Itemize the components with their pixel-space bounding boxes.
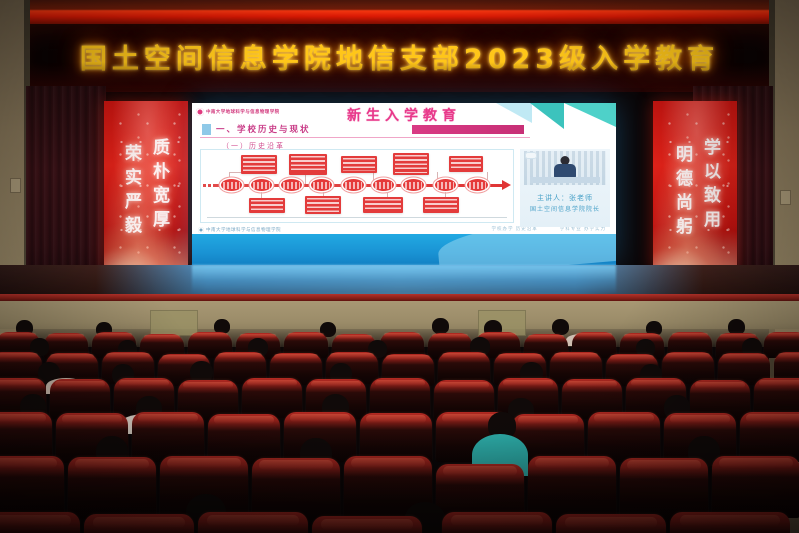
seat <box>84 514 194 533</box>
presenter-name-line: 主讲人：张老师 <box>520 193 610 203</box>
slide-section-heading: 一、学校历史与现状 <box>216 123 311 135</box>
main-projection-screen: 中南大学地球科学与信息物理学院 新生入学教育 一、学校历史与现状 （一）历史沿革 <box>192 103 616 265</box>
slide-title: 新生入学教育 <box>192 105 616 125</box>
presenter-podium <box>530 177 600 183</box>
audience-seating <box>0 316 799 533</box>
auditorium-photo: 国土空间信息学院地信支部2023级入学教育 质朴宽厚 荣实严毅 学以致用 明德尚… <box>0 0 799 533</box>
seat <box>198 512 308 533</box>
slide-title-underbar <box>412 125 524 134</box>
timeline-node <box>467 179 488 191</box>
banner-title-text: 国土空间信息学院地信支部2023级入学教育 <box>80 37 719 76</box>
timeline-box-below <box>423 197 459 213</box>
seat <box>588 412 660 462</box>
seat <box>712 456 799 518</box>
calligraphy-left-column-2: 荣实严毅 <box>119 125 144 259</box>
timeline-node <box>281 179 302 191</box>
timeline-box-above <box>241 155 277 174</box>
timeline-box-above <box>449 156 483 172</box>
footer-emblem-icon <box>198 227 204 233</box>
led-wave-left <box>104 219 188 271</box>
stage-edge-trim <box>0 294 799 301</box>
presenter-body <box>554 164 576 178</box>
calligraphy-right-column-1: 学以致用 <box>698 113 723 259</box>
wall-socket-right <box>780 190 791 205</box>
timeline-node <box>403 179 424 191</box>
seat <box>312 516 422 533</box>
presenter-badge-icon <box>525 152 537 159</box>
timeline-node <box>373 179 394 191</box>
presentation-slide: 中南大学地球科学与信息物理学院 新生入学教育 一、学校历史与现状 （一）历史沿革 <box>192 103 616 234</box>
wall-socket-left-upper <box>10 178 21 193</box>
audience-head <box>552 319 569 335</box>
timeline-arrow-icon <box>502 180 511 190</box>
seat <box>132 412 204 462</box>
slide-footer-logo-text: 中南大学地球科学与信息物理学院 <box>206 227 281 233</box>
timeline-card-footer-rule <box>207 217 507 218</box>
seat <box>68 457 156 519</box>
timeline-node <box>251 179 272 191</box>
banner-light-strip <box>14 10 785 24</box>
timeline-box-above <box>341 156 377 173</box>
seat <box>620 458 708 520</box>
timeline-node <box>343 179 364 191</box>
timeline-node <box>311 179 332 191</box>
seat <box>0 456 64 518</box>
seat <box>442 512 552 533</box>
seat <box>556 514 666 533</box>
led-wave-right <box>653 219 737 271</box>
calligraphy-right-column-2: 明德尚躬 <box>670 127 695 259</box>
seat <box>252 458 340 520</box>
slide-section-heading-group: 一、学校历史与现状 <box>202 123 311 135</box>
timeline-box-above <box>289 154 327 175</box>
audience-head <box>432 318 449 334</box>
screen-blue-band <box>192 234 616 265</box>
seat <box>0 512 80 533</box>
section-chip-icon <box>202 124 211 135</box>
led-banner-board: 国土空间信息学院地信支部2023级入学教育 <box>16 24 783 88</box>
seat <box>370 378 430 418</box>
timeline-box-below <box>363 197 403 213</box>
led-panel-right: 学以致用 明德尚躬 <box>653 101 737 271</box>
slide-divider-rule <box>200 137 530 138</box>
seat <box>528 456 616 518</box>
timeline-card <box>200 149 514 223</box>
led-panel-left: 质朴宽厚 荣实严毅 <box>104 101 188 271</box>
seat <box>740 412 799 462</box>
calligraphy-left-column-1: 质朴宽厚 <box>147 113 172 259</box>
slide-footer-logo: 中南大学地球科学与信息物理学院 <box>198 227 281 233</box>
seat <box>670 512 790 533</box>
timeline-box-below <box>305 196 341 214</box>
seat <box>0 412 52 462</box>
timeline-box-below <box>249 198 285 213</box>
presenter-title-line: 国土空间信息学院院长 <box>520 204 610 213</box>
presenter-video-inset: 主讲人：张老师 国土空间信息学院院长 <box>520 149 610 227</box>
timeline-box-above <box>393 153 429 175</box>
timeline-node <box>221 179 242 191</box>
screen-band-swoosh <box>436 234 616 265</box>
stage-floor-screen-reflection <box>192 265 616 293</box>
timeline-node <box>435 179 456 191</box>
